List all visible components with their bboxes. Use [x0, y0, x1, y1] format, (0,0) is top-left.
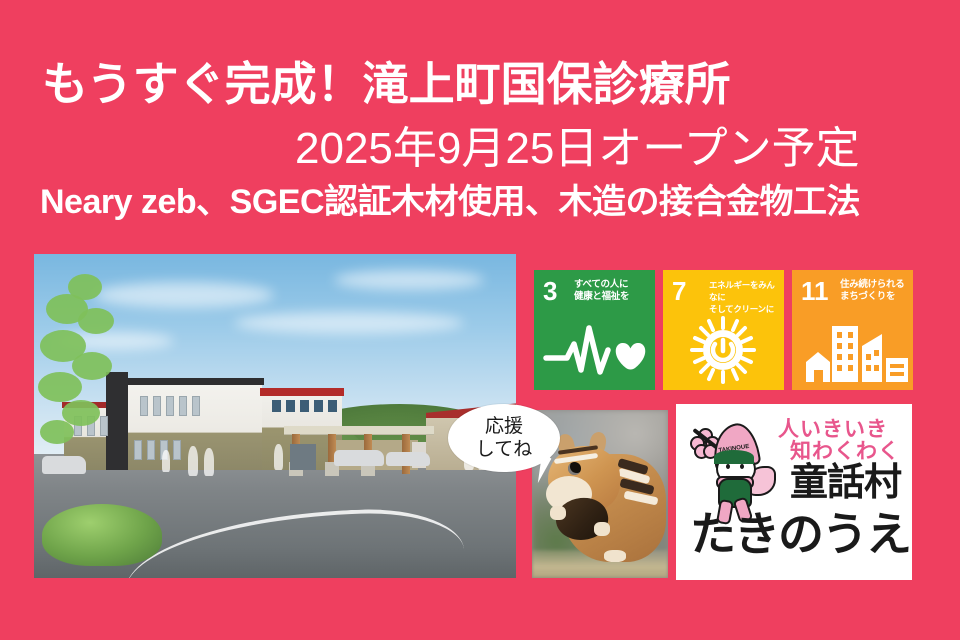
sun-power-icon: [663, 314, 784, 386]
foreground-shrub: [42, 504, 162, 566]
sdg-badge-11[interactable]: 11 住み続けられる まちづくりを: [792, 270, 913, 390]
window-row: [140, 396, 200, 416]
logo-title-dowamura: 童話村: [790, 462, 912, 504]
sdg-badge-row: 3 すべての人に 健康と福祉を 7 エネルギーをみんなに そしてクリーンに: [534, 270, 914, 390]
building-red-roof-accent: [260, 388, 344, 396]
sdg-label-line-1: 住み続けられる: [840, 279, 904, 290]
clinic-rendering-photo: [34, 254, 516, 578]
foreground-tree: [38, 260, 134, 460]
window: [173, 440, 181, 460]
window-row: [134, 440, 181, 460]
chipmunk-paw: [594, 522, 610, 536]
window: [286, 400, 295, 412]
fairy-eye: [740, 464, 744, 469]
sdg-label-line-2: 健康と福祉を: [574, 291, 629, 302]
tree-leaf: [40, 420, 74, 444]
cityscape-buildings-icon: [792, 314, 913, 386]
headline-line-3: Neary zeb、SGEC認証木材使用、木造の接合金物工法: [40, 182, 930, 222]
sdg-badge-7[interactable]: 7 エネルギーをみんなに そしてクリーンに: [663, 270, 784, 390]
sdg-label: エネルギーをみんなに そしてクリーンに: [709, 279, 781, 315]
fairy-eye: [726, 464, 730, 469]
headline-line-1: もうすぐ完成！滝上町国保診療所: [42, 58, 922, 110]
sdg-number: 3: [543, 278, 557, 304]
parked-car: [42, 456, 86, 474]
sdg-label: すべての人に 健康と福祉を: [574, 279, 650, 303]
poster-canvas: もうすぐ完成！滝上町国保診療所 2025年9月25日オープン予定 Neary z…: [0, 0, 960, 640]
window: [147, 440, 155, 460]
logo-title-takinoue: たきのうえ: [690, 508, 912, 560]
entrance-door: [290, 444, 316, 470]
parked-car: [334, 450, 384, 466]
tree-leaf: [38, 372, 82, 402]
sdg-label: 住み続けられる まちづくりを: [840, 279, 910, 303]
figure-silhouette: [274, 444, 283, 470]
window: [134, 440, 142, 460]
window-row-dark: [272, 400, 337, 412]
sdg-badge-3[interactable]: 3 すべての人に 健康と福祉を: [534, 270, 655, 390]
figure-silhouette: [162, 450, 170, 472]
window: [166, 396, 174, 416]
tree-leaf: [72, 352, 112, 380]
cloud: [234, 312, 464, 334]
parked-car: [386, 452, 430, 466]
window: [140, 396, 148, 416]
window: [179, 396, 187, 416]
figure-silhouette: [204, 448, 214, 476]
window: [192, 396, 200, 416]
fairy-mascot: TAKINOUE: [688, 420, 780, 516]
tree-leaf: [78, 308, 114, 334]
sdg-label-line-1: すべての人に: [574, 279, 628, 290]
sdg-number: 7: [672, 278, 686, 304]
window: [314, 400, 323, 412]
window: [272, 400, 281, 412]
headline-line-2: 2025年9月25日オープン予定: [295, 124, 935, 174]
window: [153, 396, 161, 416]
speech-bubble-line-2: してね: [476, 438, 532, 461]
town-logo-panel: TAKINOUE 人いきいき 知わくわく 童話村 たきのうえ: [676, 404, 912, 580]
fairy-hair: [714, 450, 754, 464]
sdg-label-line-2: まちづくりを: [840, 291, 895, 302]
heartbeat-heart-icon: [534, 314, 655, 386]
cloud: [334, 270, 484, 290]
sdg-label-line-1: エネルギーをみんなに: [709, 280, 775, 302]
sdg-label-line-2: そしてクリーンに: [709, 304, 774, 314]
speech-bubble-line-1: 応援: [485, 415, 523, 438]
headline-block: もうすぐ完成！滝上町国保診療所 2025年9月25日オープン予定 Neary z…: [0, 0, 960, 232]
window: [300, 400, 309, 412]
chipmunk-paw: [604, 550, 626, 562]
window: [328, 400, 337, 412]
town-logo-inner: TAKINOUE 人いきいき 知わくわく 童話村 たきのうえ: [682, 410, 906, 574]
logo-catchphrase-line-2: 知わくわく: [790, 440, 912, 463]
figure-silhouette: [188, 446, 198, 476]
logo-catchphrase-line-1: 人いきいき: [778, 418, 912, 441]
chipmunk-eye: [568, 462, 581, 475]
sdg-number: 11: [801, 278, 829, 304]
chipmunk-paw: [550, 506, 566, 520]
entrance-canopy: [284, 426, 434, 434]
